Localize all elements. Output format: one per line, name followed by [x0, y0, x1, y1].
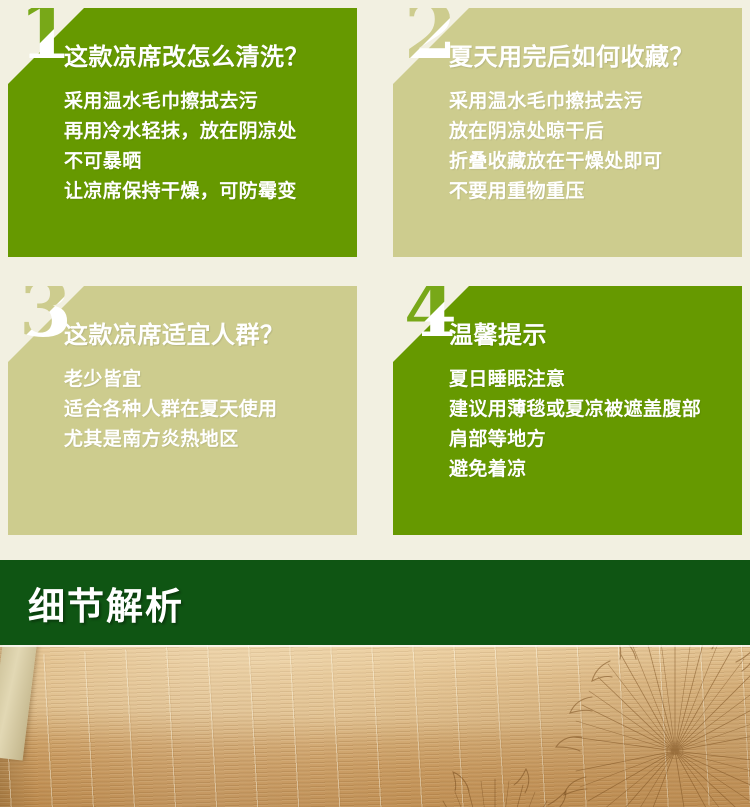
faq-card-title-1: 这款凉席改怎么清洗？	[64, 37, 309, 72]
photo-top-rule	[0, 645, 750, 647]
section-banner: 细节解析	[0, 560, 750, 645]
faq-card-line: 采用温水毛巾擦拭去污	[449, 86, 732, 116]
faq-card-line: 建议用薄毯或夏凉被遮盖腹部	[449, 394, 732, 424]
detail-photo-bamboo-mat	[0, 645, 750, 807]
faq-card-1[interactable]: 1 1 这款凉席改怎么清洗？ 采用温水毛巾擦拭去污 再用冷水轻抹，放在阴凉处 不…	[8, 8, 357, 257]
faq-card-line: 不可暴晒	[64, 146, 347, 176]
faq-card-line: 肩部等地方	[449, 424, 732, 454]
dandelion-burn-motif-secondary-icon	[395, 753, 595, 807]
faq-card-body-2: 采用温水毛巾擦拭去污 放在阴凉处晾干后 折叠收藏放在干燥处即可 不要用重物重压	[449, 86, 732, 206]
faq-card-body-3: 老少皆宜 适合各种人群在夏天使用 尤其是南方炎热地区	[64, 364, 347, 454]
faq-card-3[interactable]: 3 3 这款凉席适宜人群？ 老少皆宜 适合各种人群在夏天使用 尤其是南方炎热地区	[8, 286, 357, 535]
faq-card-title-3: 这款凉席适宜人群？	[64, 315, 285, 350]
faq-card-line: 让凉席保持干燥，可防霉变	[64, 176, 347, 206]
faq-card-title-4: 温馨提示	[449, 315, 547, 350]
faq-card-line: 再用冷水轻抹，放在阴凉处	[64, 116, 347, 146]
faq-card-4[interactable]: 4 4 温馨提示 夏日睡眠注意 建议用薄毯或夏凉被遮盖腹部 肩部等地方 避免着凉	[393, 286, 742, 535]
faq-card-line: 不要用重物重压	[449, 176, 732, 206]
faq-card-line: 尤其是南方炎热地区	[64, 424, 347, 454]
faq-card-line: 放在阴凉处晾干后	[449, 116, 732, 146]
faq-card-line: 老少皆宜	[64, 364, 347, 394]
faq-card-body-4: 夏日睡眠注意 建议用薄毯或夏凉被遮盖腹部 肩部等地方 避免着凉	[449, 364, 732, 484]
faq-card-body-1: 采用温水毛巾擦拭去污 再用冷水轻抹，放在阴凉处 不可暴晒 让凉席保持干燥，可防霉…	[64, 86, 347, 206]
faq-card-2[interactable]: 2 2 夏天用完后如何收藏？ 采用温水毛巾擦拭去污 放在阴凉处晾干后 折叠收藏放…	[393, 8, 742, 257]
faq-card-title-2: 夏天用完后如何收藏？	[449, 37, 694, 72]
faq-card-line: 避免着凉	[449, 454, 732, 484]
section-banner-title: 细节解析	[28, 576, 184, 630]
faq-card-line: 折叠收藏放在干燥处即可	[449, 146, 732, 176]
faq-card-line: 适合各种人群在夏天使用	[64, 394, 347, 424]
faq-card-line: 采用温水毛巾擦拭去污	[64, 86, 347, 116]
faq-card-line: 夏日睡眠注意	[449, 364, 732, 394]
faq-card-grid: 1 1 这款凉席改怎么清洗？ 采用温水毛巾擦拭去污 再用冷水轻抹，放在阴凉处 不…	[0, 0, 750, 553]
